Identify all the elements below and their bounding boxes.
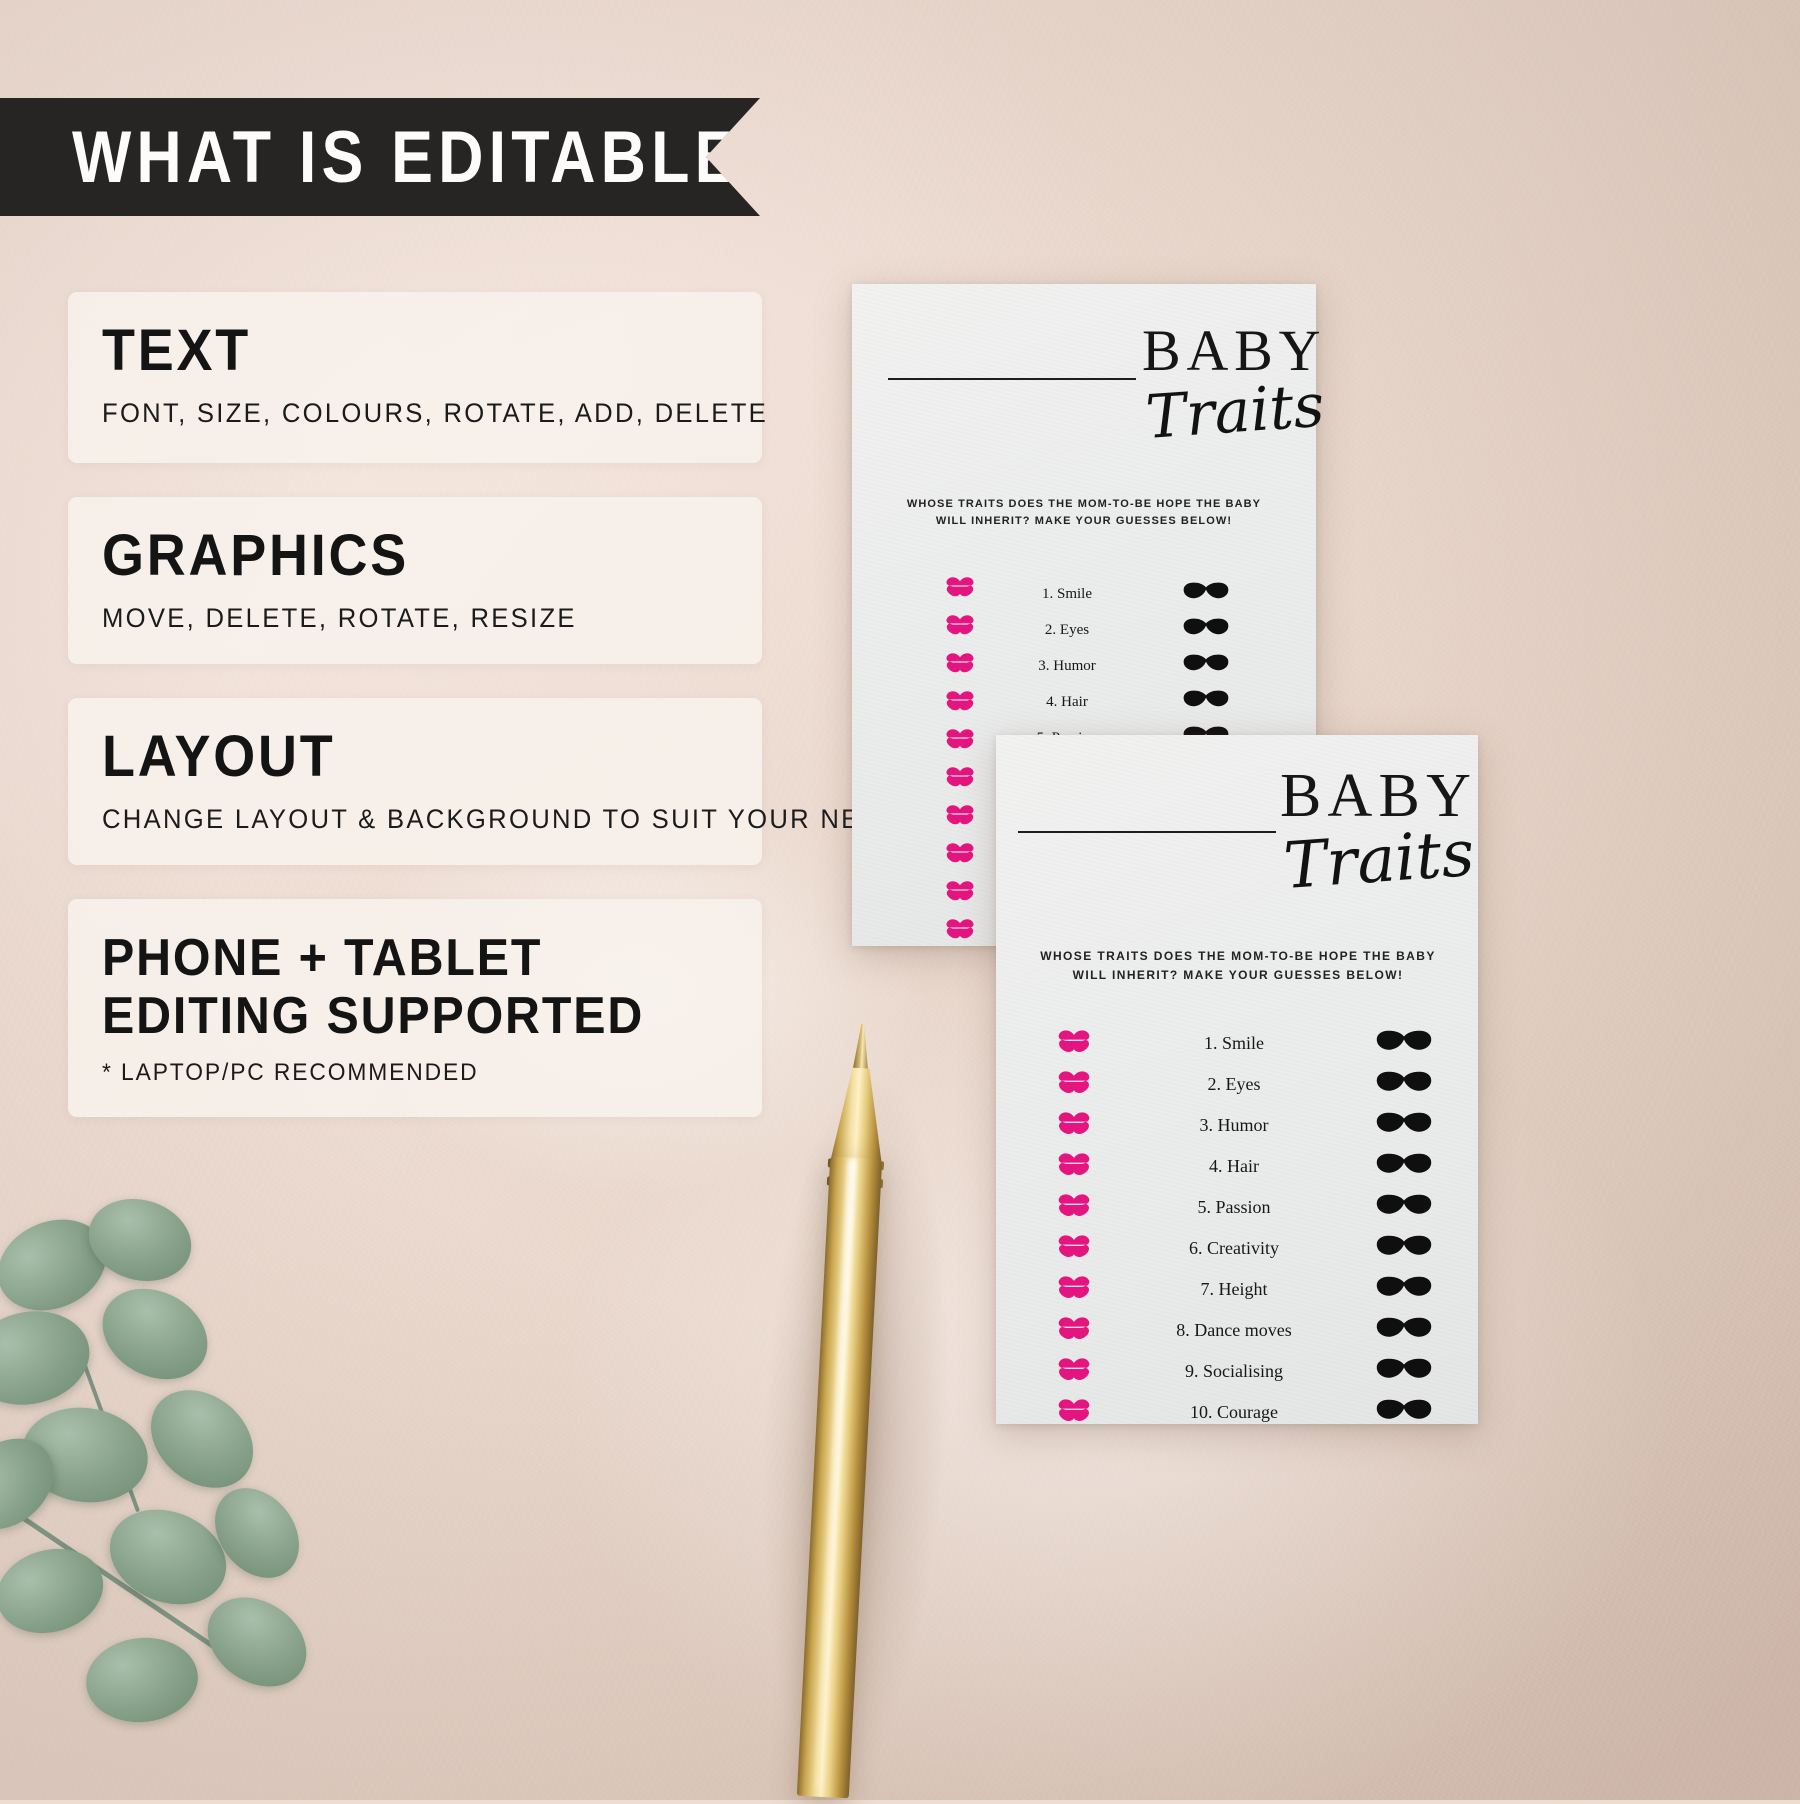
- moustache-icon: [1376, 1112, 1432, 1134]
- feature-title-text: TEXT: [102, 322, 684, 380]
- lips-icon: [940, 652, 980, 690]
- feature-card-graphics: GRAPHICS MOVE, DELETE, ROTATE, RESIZE: [68, 497, 762, 664]
- moustache-icon: [1376, 1276, 1432, 1298]
- lips-icon: [940, 576, 980, 614]
- moustache-icon: [1376, 1030, 1432, 1052]
- lips-icon: [1057, 1398, 1091, 1422]
- lips-icon: [1048, 1234, 1100, 1263]
- card-instruction-top: WHOSE TRAITS DOES THE MOM-TO-BE HOPE THE…: [874, 496, 1294, 530]
- lips-icon: [945, 766, 975, 788]
- lips-icon: [1057, 1316, 1091, 1340]
- moustache-icon: [1376, 1399, 1432, 1421]
- leaf: [0, 1537, 113, 1646]
- lips-icon: [1057, 1357, 1091, 1381]
- trait-row: 9. Socialising: [1048, 1351, 1440, 1392]
- lips-icon: [940, 880, 980, 918]
- card-instruction-top-line1: WHOSE TRAITS DOES THE MOM-TO-BE HOPE THE…: [874, 496, 1294, 513]
- lips-strip-top: [940, 576, 980, 956]
- leaf: [0, 1300, 98, 1415]
- lips-icon: [945, 918, 975, 940]
- lips-icon: [1048, 1152, 1100, 1181]
- leaf: [87, 1271, 224, 1397]
- moustache-icon: [1368, 1112, 1440, 1139]
- name-line-bottom: [1018, 831, 1276, 833]
- feature-card-text: TEXT FONT, SIZE, COLOURS, ROTATE, ADD, D…: [68, 292, 762, 463]
- card-instruction-bottom-line1: WHOSE TRAITS DOES THE MOM-TO-BE HOPE THE…: [1020, 947, 1456, 966]
- lips-icon: [945, 690, 975, 712]
- lips-icon: [945, 728, 975, 750]
- feature-card-list: TEXT FONT, SIZE, COLOURS, ROTATE, ADD, D…: [68, 292, 762, 1151]
- moustache-icon: [1368, 1358, 1440, 1385]
- feature-subtitle-graphics: MOVE, DELETE, ROTATE, RESIZE: [102, 603, 697, 634]
- card-instruction-bottom: WHOSE TRAITS DOES THE MOM-TO-BE HOPE THE…: [1020, 947, 1456, 984]
- moustache-icon: [1368, 1194, 1440, 1221]
- printable-card-bottom: BABY Traits WHOSE TRAITS DOES THE MOM-TO…: [996, 735, 1478, 1424]
- trait-label: 4. Hair: [964, 694, 1170, 711]
- trait-row: 8. Dance moves: [1048, 1310, 1440, 1351]
- lips-icon: [940, 918, 980, 956]
- lips-icon: [1057, 1152, 1091, 1176]
- moustache-icon: [1368, 1235, 1440, 1262]
- moustache-icon: [1183, 582, 1229, 600]
- moustache-icon: [1368, 1276, 1440, 1303]
- moustache-icon: [1183, 690, 1229, 708]
- card-instruction-top-line2: WILL INHERIT? MAKE YOUR GUESSES BELOW!: [874, 513, 1294, 530]
- lips-icon: [1048, 1029, 1100, 1058]
- lips-icon: [940, 690, 980, 728]
- lips-icon: [1048, 1357, 1100, 1386]
- moustache-icon: [1376, 1194, 1432, 1216]
- trait-label: 1. Smile: [1100, 1033, 1368, 1054]
- lips-icon: [945, 576, 975, 598]
- moustache-icon: [1376, 1153, 1432, 1175]
- feature-title-phone-line1: PHONE + TABLET: [102, 929, 684, 987]
- lips-icon: [945, 842, 975, 864]
- moustache-icon: [1368, 1153, 1440, 1180]
- lips-icon: [1048, 1398, 1100, 1427]
- eucalyptus-decoration: [0, 1200, 420, 1800]
- moustache-icon: [1368, 1399, 1440, 1426]
- feature-subtitle-layout: CHANGE LAYOUT & BACKGROUND TO SUIT YOUR …: [102, 804, 697, 835]
- trait-list-bottom: 1. Smile2. Eyes3. Humor4. Hair5. Passion…: [1048, 1023, 1440, 1433]
- lips-icon: [1057, 1193, 1091, 1217]
- trait-row: 1. Smile: [1048, 1023, 1440, 1064]
- lips-icon: [1057, 1275, 1091, 1299]
- lips-icon: [1057, 1111, 1091, 1135]
- lips-icon: [1048, 1275, 1100, 1304]
- lips-icon: [945, 614, 975, 636]
- trait-row: 6. Creativity: [1048, 1228, 1440, 1269]
- moustache-icon: [1376, 1317, 1432, 1339]
- lips-icon: [940, 804, 980, 842]
- moustache-icon: [1170, 690, 1242, 713]
- leaf: [82, 1632, 202, 1727]
- lips-icon: [1057, 1070, 1091, 1094]
- feature-subtitle-text: FONT, SIZE, COLOURS, ROTATE, ADD, DELETE: [102, 398, 697, 429]
- feature-card-phone-tablet: PHONE + TABLET EDITING SUPPORTED * LAPTO…: [68, 899, 762, 1117]
- pen-cone: [830, 1067, 887, 1166]
- trait-label: 2. Eyes: [964, 622, 1170, 639]
- trait-label: 6. Creativity: [1100, 1238, 1368, 1259]
- lips-icon: [945, 880, 975, 902]
- moustache-icon: [1170, 654, 1242, 677]
- trait-label: 7. Height: [1100, 1279, 1368, 1300]
- lips-icon: [945, 652, 975, 674]
- page-title: WHAT IS EDITABLE?: [72, 116, 785, 199]
- moustache-icon: [1368, 1317, 1440, 1344]
- moustache-icon: [1376, 1235, 1432, 1257]
- lips-icon: [940, 766, 980, 804]
- moustache-icon: [1183, 618, 1229, 636]
- trait-label: 3. Humor: [964, 658, 1170, 675]
- leaf: [191, 1579, 324, 1705]
- trait-label: 9. Socialising: [1100, 1361, 1368, 1382]
- lips-icon: [1057, 1029, 1091, 1053]
- lips-icon: [940, 614, 980, 652]
- card-instruction-bottom-line2: WILL INHERIT? MAKE YOUR GUESSES BELOW!: [1020, 966, 1456, 985]
- name-line-top: [888, 378, 1136, 380]
- trait-row: 7. Height: [1048, 1269, 1440, 1310]
- moustache-icon: [1368, 1071, 1440, 1098]
- trait-label: 5. Passion: [1100, 1197, 1368, 1218]
- moustache-icon: [1183, 654, 1229, 672]
- trait-label: 1. Smile: [964, 586, 1170, 603]
- trait-row: 10. Courage: [1048, 1392, 1440, 1433]
- trait-label: 3. Humor: [1100, 1115, 1368, 1136]
- trait-label: 2. Eyes: [1100, 1074, 1368, 1095]
- moustache-icon: [1170, 582, 1242, 605]
- trait-row: 3. Humor: [1048, 1105, 1440, 1146]
- moustache-icon: [1170, 618, 1242, 641]
- moustache-icon: [1376, 1071, 1432, 1093]
- lips-icon: [1048, 1316, 1100, 1345]
- card-title-traits-top: Traits: [1144, 375, 1328, 447]
- trait-row: 5. Passion: [1048, 1187, 1440, 1228]
- lips-icon: [945, 804, 975, 826]
- trait-label: 8. Dance moves: [1100, 1320, 1368, 1341]
- card-title-traits-bottom: Traits: [1282, 822, 1479, 899]
- trait-row: 2. Eyes: [1048, 1064, 1440, 1105]
- feature-note-phone: * LAPTOP/PC RECOMMENDED: [102, 1059, 697, 1087]
- trait-label: 10. Courage: [1100, 1402, 1368, 1423]
- lips-icon: [940, 728, 980, 766]
- lips-icon: [1048, 1193, 1100, 1222]
- moustache-icon: [1376, 1358, 1432, 1380]
- lips-icon: [940, 842, 980, 880]
- trait-label: 4. Hair: [1100, 1156, 1368, 1177]
- feature-title-layout: LAYOUT: [102, 728, 684, 786]
- feature-title-graphics: GRAPHICS: [102, 527, 684, 585]
- feature-title-phone-line2: EDITING SUPPORTED: [102, 987, 684, 1045]
- lips-icon: [1057, 1234, 1091, 1258]
- header-ribbon: WHAT IS EDITABLE?: [0, 98, 760, 216]
- lips-icon: [1048, 1111, 1100, 1140]
- trait-row: 4. Hair: [1048, 1146, 1440, 1187]
- feature-card-layout: LAYOUT CHANGE LAYOUT & BACKGROUND TO SUI…: [68, 698, 762, 865]
- moustache-icon: [1368, 1030, 1440, 1057]
- lips-icon: [1048, 1070, 1100, 1099]
